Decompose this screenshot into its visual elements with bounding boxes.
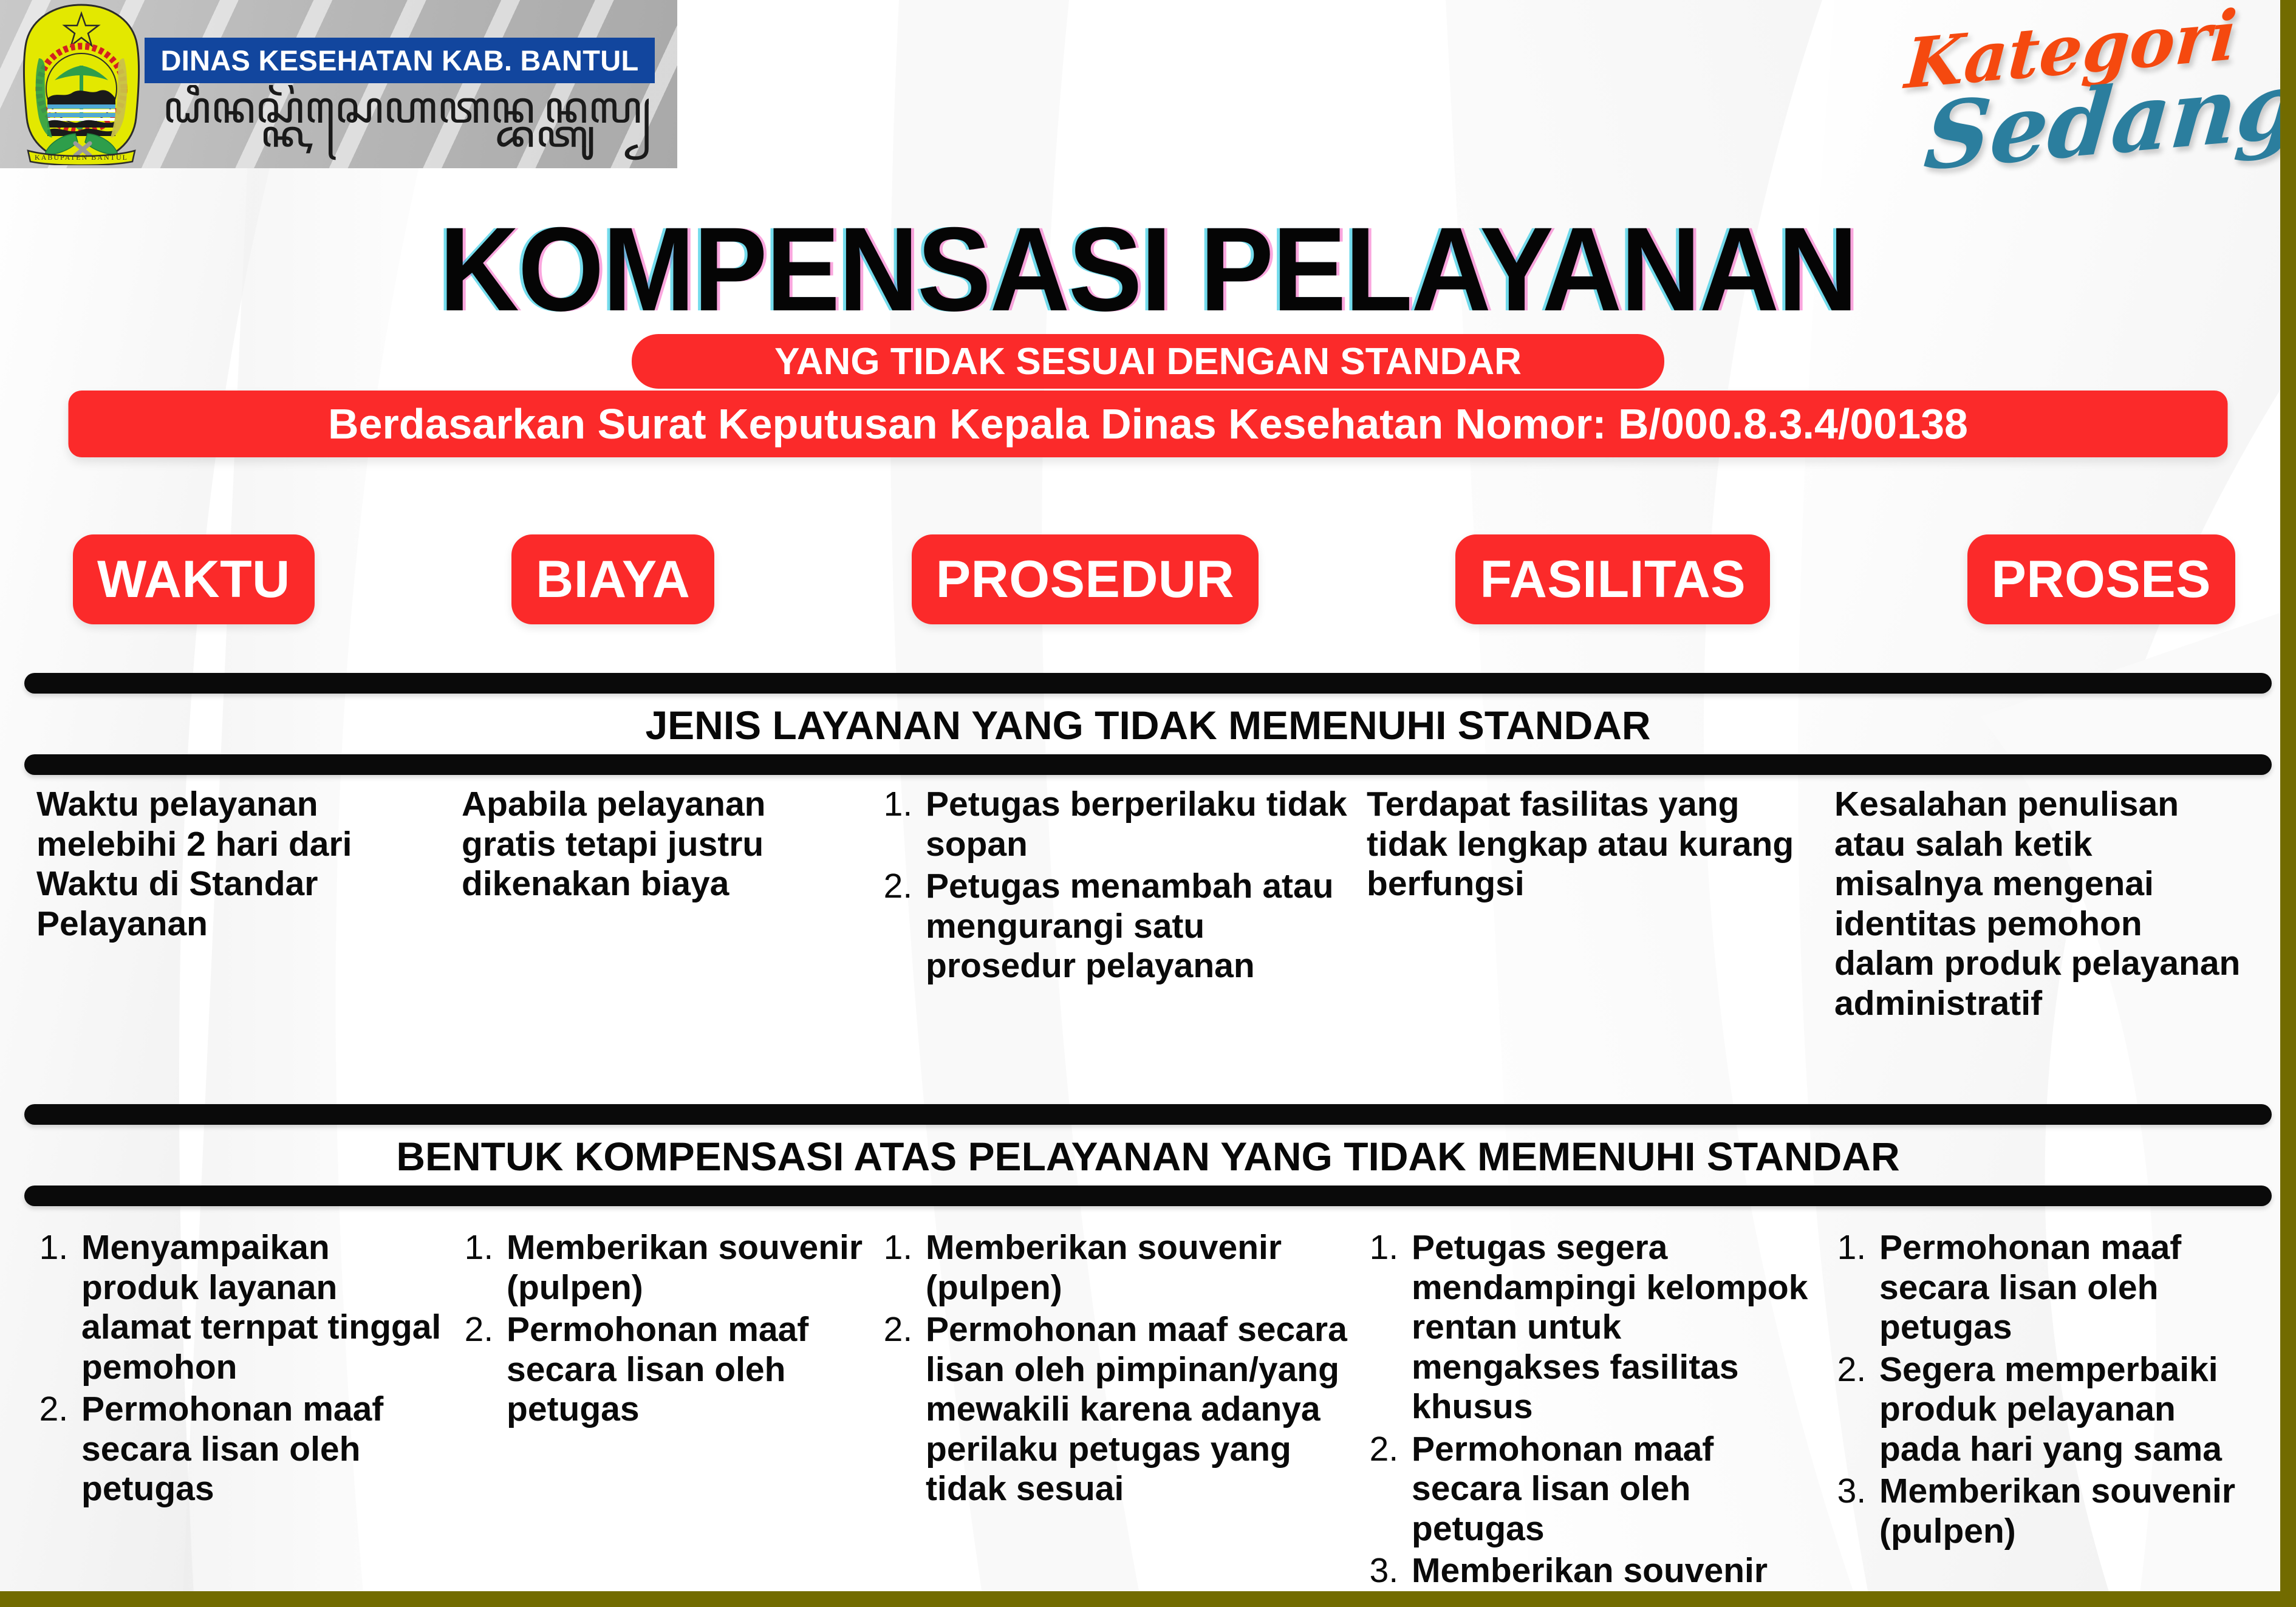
column-bentuk-biaya: Memberikan souvenir (pulpen) Permohonan …: [462, 1228, 881, 1432]
category-badge: Kategori Sedang: [1888, 0, 2267, 197]
category-pill-waktu[interactable]: WAKTU: [73, 534, 315, 624]
subtitle-banner-text: YANG TIDAK SESUAI DENGAN STANDAR: [774, 340, 1522, 383]
list-item: Menyampaikan produk layanan alamat ternp…: [78, 1228, 445, 1387]
section-title-bentuk: BENTUK KOMPENSASI ATAS PELAYANAN YANG TI…: [24, 1125, 2272, 1186]
page-title-text: KOMPENSASI PELAYANAN: [439, 200, 1856, 338]
list-item: Petugas segera mendampingi kelompok rent…: [1408, 1228, 1817, 1427]
section-rule-bottom: [24, 1186, 2272, 1206]
column-text: Waktu pelayanan melebihi 2 hari dari Wak…: [36, 785, 445, 944]
list-item: Permohonan maaf secara lisan oleh petuga…: [1408, 1430, 1817, 1549]
column-text: Apabila pelayanan gratis tetapi justru d…: [462, 785, 864, 904]
department-name-bar: DINAS KESEHATAN KAB. BANTUL: [145, 38, 655, 83]
column-text: Terdapat fasilitas yang tidak lengkap at…: [1367, 785, 1817, 904]
section-header-jenis: JENIS LAYANAN YANG TIDAK MEMENUHI STANDA…: [24, 673, 2272, 775]
column-text: Kesalahan penulisan atau salah ketik mis…: [1834, 785, 2249, 1023]
column-list: Petugas segera mendampingi kelompok rent…: [1367, 1228, 1817, 1607]
list-item: Memberikan souvenir (pulpen): [503, 1228, 864, 1308]
column-list: Petugas berperilaku tidak sopan Petugas …: [881, 785, 1350, 986]
bantul-regency-emblem-icon: KABUPATEN BANTUL: [17, 2, 146, 165]
list-item: Segera memperbaiki produk pelayanan pada…: [1876, 1350, 2249, 1470]
list-item: Permohonan maaf secara lisan oleh petuga…: [1876, 1228, 2249, 1348]
column-bentuk-fasilitas: Petugas segera mendampingi kelompok rent…: [1367, 1228, 1834, 1607]
column-jenis-proses: Kesalahan penulisan atau salah ketik mis…: [1834, 785, 2266, 1023]
section-columns-jenis: Waktu pelayanan melebihi 2 hari dari Wak…: [36, 785, 2266, 1023]
list-item: Permohonan maaf secara lisan oleh petuga…: [78, 1390, 445, 1509]
decree-banner: Berdasarkan Surat Keputusan Kepala Dinas…: [69, 391, 2228, 457]
category-pill-label: BIAYA: [536, 550, 690, 610]
frame-border-bottom: [0, 1591, 2296, 1607]
section-rule-top: [24, 673, 2272, 694]
frame-border-right: [2280, 0, 2296, 1607]
category-pill-fasilitas[interactable]: FASILITAS: [1455, 534, 1770, 624]
page-title: KOMPENSASI PELAYANAN: [0, 205, 2296, 333]
list-item: Memberikan souvenir (pulpen): [922, 1228, 1350, 1308]
category-pill-label: FASILITAS: [1480, 550, 1746, 610]
list-item: Memberikan souvenir (pulpen): [1876, 1472, 2249, 1551]
section-rule-bottom: [24, 754, 2272, 775]
category-pill-prosedur[interactable]: PROSEDUR: [912, 534, 1259, 624]
column-list: Permohonan maaf secara lisan oleh petuga…: [1834, 1228, 2249, 1551]
column-list: Memberikan souvenir (pulpen) Permohonan …: [881, 1228, 1350, 1509]
section-header-bentuk: BENTUK KOMPENSASI ATAS PELAYANAN YANG TI…: [24, 1104, 2272, 1206]
category-pill-label: PROSES: [1992, 550, 2211, 610]
department-name-label: DINAS KESEHATAN KAB. BANTUL: [160, 44, 638, 77]
section-columns-bentuk: Menyampaikan produk layanan alamat ternp…: [36, 1228, 2266, 1607]
list-item: Permohonan maaf secara lisan oleh petuga…: [503, 1310, 864, 1430]
svg-text:KABUPATEN BANTUL: KABUPATEN BANTUL: [35, 153, 128, 162]
category-pill-proses[interactable]: PROSES: [1967, 534, 2235, 624]
list-item: Permohonan maaf secara lisan oleh pimpin…: [922, 1310, 1350, 1509]
column-jenis-prosedur: Petugas berperilaku tidak sopan Petugas …: [881, 785, 1367, 989]
list-item: Petugas menambah atau mengurangi satu pr…: [922, 867, 1350, 986]
category-pill-label: PROSEDUR: [936, 550, 1234, 610]
decree-banner-text: Berdasarkan Surat Keputusan Kepala Dinas…: [328, 400, 1968, 448]
section-rule-top: [24, 1104, 2272, 1125]
column-list: Menyampaikan produk layanan alamat ternp…: [36, 1228, 445, 1509]
category-pill-biaya[interactable]: BIAYA: [511, 534, 714, 624]
subtitle-banner: YANG TIDAK SESUAI DENGAN STANDAR: [632, 334, 1664, 389]
javanese-script-text: ꦝꦶꦤꦱ꧀ꦏꦼꦱꦺꦲꦠꦤ꧀ꦧꦤ꧀ꦠꦸꦭ꧀: [163, 85, 649, 161]
category-pill-row: WAKTU BIAYA PROSEDUR FASILITAS PROSES: [73, 534, 2235, 624]
column-bentuk-waktu: Menyampaikan produk layanan alamat ternp…: [36, 1228, 462, 1512]
list-item: Petugas berperilaku tidak sopan: [922, 785, 1350, 864]
column-jenis-biaya: Apabila pelayanan gratis tetapi justru d…: [462, 785, 881, 904]
poster-canvas: KABUPATEN BANTUL DINAS KESEHATAN KAB. BA…: [0, 0, 2296, 1607]
header-logo-block: KABUPATEN BANTUL DINAS KESEHATAN KAB. BA…: [0, 0, 677, 168]
column-list: Memberikan souvenir (pulpen) Permohonan …: [462, 1228, 864, 1430]
column-jenis-fasilitas: Terdapat fasilitas yang tidak lengkap at…: [1367, 785, 1834, 904]
column-jenis-waktu: Waktu pelayanan melebihi 2 hari dari Wak…: [36, 785, 462, 944]
column-bentuk-proses: Permohonan maaf secara lisan oleh petuga…: [1834, 1228, 2266, 1554]
section-title-jenis: JENIS LAYANAN YANG TIDAK MEMENUHI STANDA…: [24, 694, 2272, 754]
category-pill-label: WAKTU: [97, 550, 290, 610]
column-bentuk-prosedur: Memberikan souvenir (pulpen) Permohonan …: [881, 1228, 1367, 1512]
